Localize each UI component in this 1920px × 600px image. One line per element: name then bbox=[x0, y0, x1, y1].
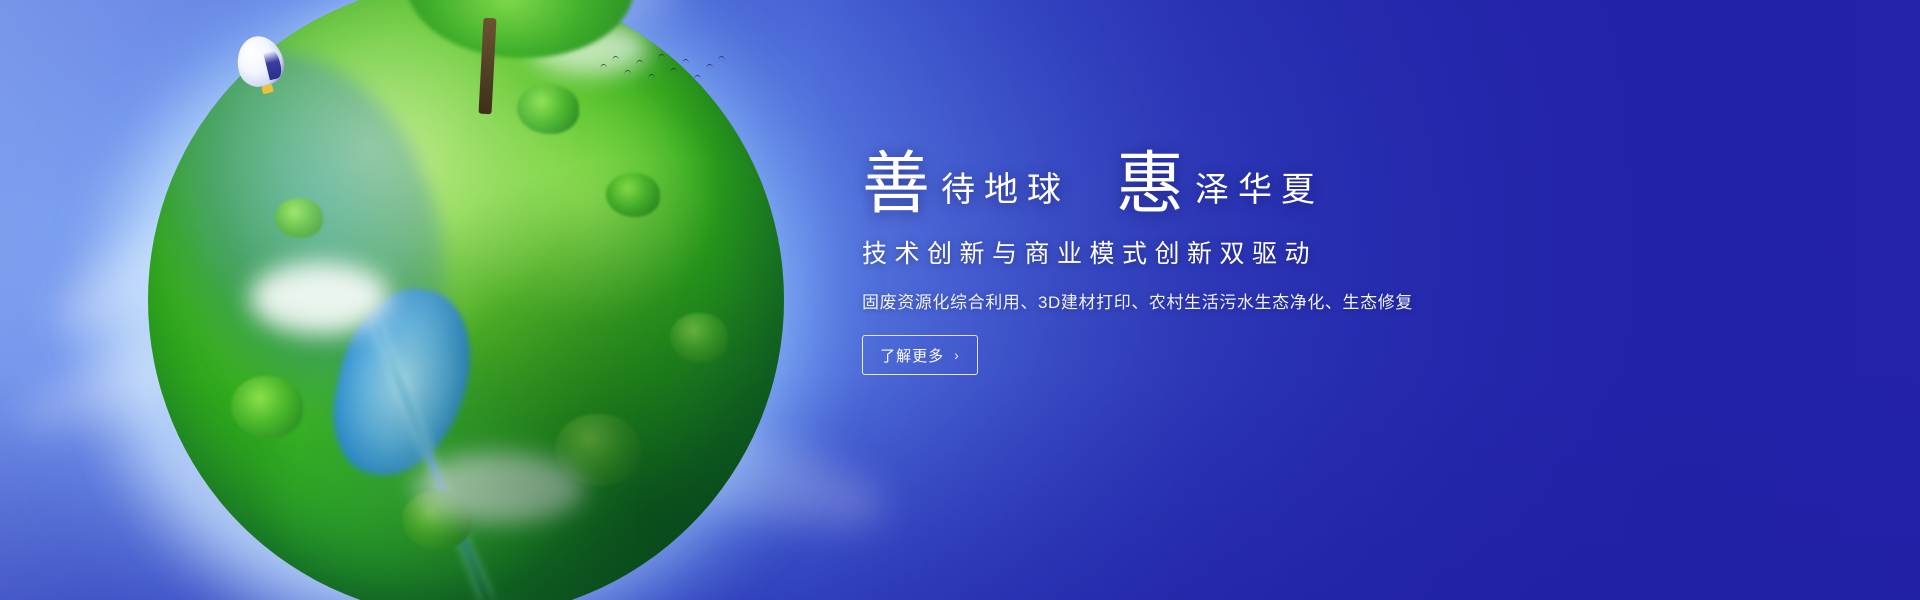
learn-more-label: 了解更多 bbox=[880, 345, 944, 366]
bird-icon bbox=[706, 64, 714, 70]
bird-icon bbox=[648, 74, 656, 80]
banner-copy: 善 待地球 惠 泽华夏 技术创新与商业模式创新双驱动 固废资源化综合利用、3D建… bbox=[862, 128, 1622, 375]
bird-flock-icon bbox=[600, 50, 730, 90]
learn-more-button[interactable]: 了解更多 › bbox=[862, 335, 978, 375]
chevron-right-icon: › bbox=[954, 348, 960, 362]
bird-icon bbox=[670, 68, 678, 74]
bird-icon bbox=[694, 75, 702, 81]
headline-part1-large: 善 bbox=[862, 150, 931, 218]
bird-icon bbox=[718, 56, 726, 62]
headline: 善 待地球 惠 泽华夏 bbox=[862, 128, 1622, 214]
subheadline: 技术创新与商业模式创新双驱动 bbox=[862, 234, 1622, 270]
bird-icon bbox=[682, 59, 690, 65]
headline-part2-small: 泽华夏 bbox=[1195, 174, 1324, 208]
hero-banner: 善 待地球 惠 泽华夏 技术创新与商业模式创新双驱动 固废资源化综合利用、3D建… bbox=[0, 0, 1920, 600]
bird-icon bbox=[658, 54, 666, 60]
headline-part1-small: 待地球 bbox=[941, 174, 1070, 208]
bird-icon bbox=[612, 56, 620, 62]
bird-icon bbox=[636, 60, 644, 66]
banner-description: 固废资源化综合利用、3D建材打印、农村生活污水生态净化、生态修复 bbox=[862, 288, 1622, 313]
bird-icon bbox=[600, 64, 608, 70]
headline-part2-large: 惠 bbox=[1116, 150, 1185, 218]
bird-icon bbox=[624, 70, 632, 76]
